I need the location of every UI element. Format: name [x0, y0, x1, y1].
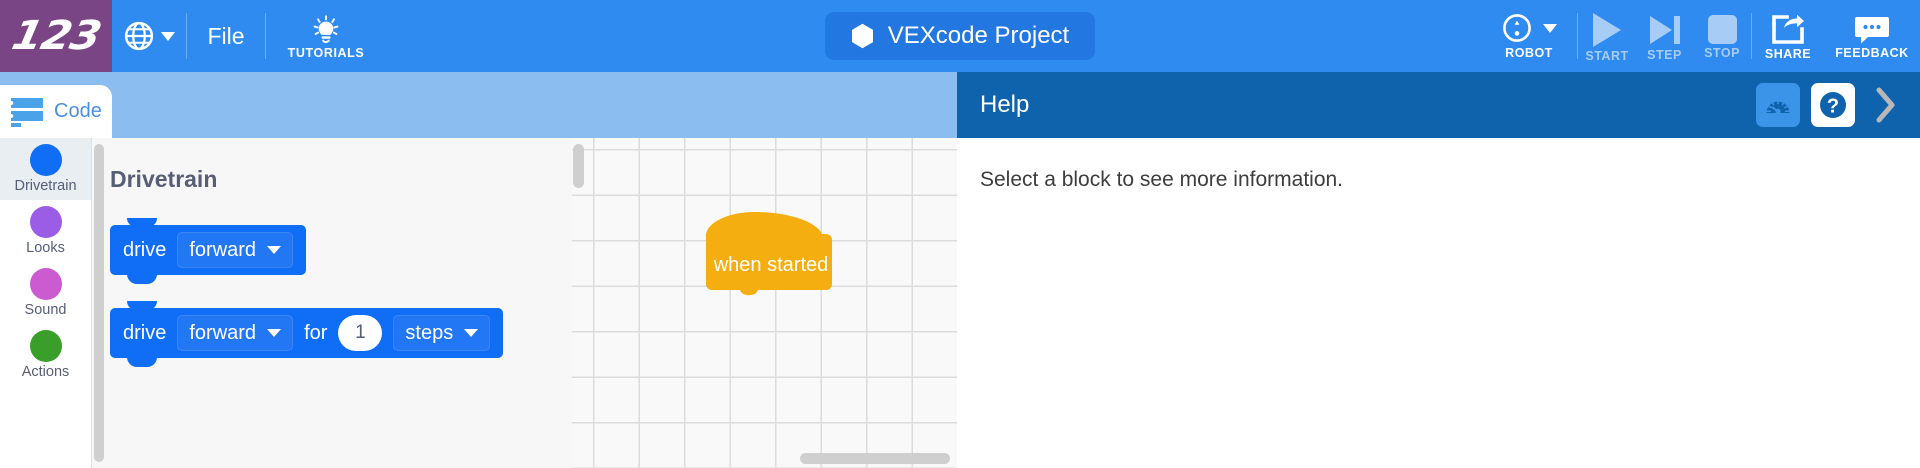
- block-drive-direction-for-steps[interactable]: drive forward for 1 steps: [110, 308, 503, 358]
- blocks-stack-icon: [9, 96, 47, 128]
- sidebar-item-label: Actions: [22, 364, 70, 380]
- speech-bubble-icon: [1854, 16, 1890, 44]
- tutorials-button[interactable]: TUTORIALS: [266, 0, 386, 72]
- share-button[interactable]: SHARE: [1752, 0, 1824, 72]
- step-label: STEP: [1647, 48, 1682, 62]
- step-button[interactable]: STEP: [1636, 0, 1693, 72]
- unit-value: steps: [405, 322, 453, 345]
- chevron-down-icon: [267, 246, 281, 254]
- vex-123-logo[interactable]: 123: [0, 0, 112, 72]
- chevron-right-icon: [1874, 85, 1898, 125]
- feedback-button[interactable]: FEEDBACK: [1824, 0, 1920, 72]
- project-name-button[interactable]: VEXcode Project: [825, 12, 1095, 60]
- file-menu-button[interactable]: File: [187, 0, 265, 72]
- logo-text: 123: [8, 13, 105, 59]
- collapse-help-button[interactable]: [1866, 80, 1906, 130]
- globe-icon: [124, 21, 154, 51]
- tab-code-label: Code: [54, 100, 102, 123]
- block-verb-label: drive: [123, 322, 166, 345]
- stop-label: STOP: [1704, 46, 1740, 60]
- palette-title: Drivetrain: [110, 166, 217, 193]
- sidebar-item-looks[interactable]: Looks: [0, 200, 91, 262]
- robot-menu-button[interactable]: ROBOT: [1481, 0, 1577, 72]
- dashboard-button[interactable]: [1756, 83, 1800, 127]
- svg-text:?: ?: [1827, 95, 1839, 117]
- category-color-dot: [30, 330, 62, 362]
- project-name-text: VEXcode Project: [888, 22, 1069, 50]
- sidebar-item-drivetrain[interactable]: Drivetrain: [0, 138, 91, 200]
- block-when-started[interactable]: when started: [702, 210, 840, 298]
- play-icon: [1593, 13, 1621, 47]
- share-label: SHARE: [1765, 47, 1811, 61]
- vexcode-app: 123 File: [0, 0, 1920, 468]
- start-label: START: [1585, 49, 1628, 63]
- help-panel-title: Help: [980, 91, 1029, 119]
- sidebar-item-actions[interactable]: Actions: [0, 324, 91, 386]
- palette-scrollbar[interactable]: [94, 144, 104, 462]
- gauge-icon: [1764, 91, 1792, 119]
- sidebar-item-sound[interactable]: Sound: [0, 262, 91, 324]
- direction-dropdown[interactable]: forward: [177, 232, 293, 268]
- share-icon: [1771, 14, 1805, 45]
- lightbulb-icon: [309, 15, 343, 45]
- block-for-label: for: [304, 322, 327, 345]
- workspace-horizontal-scrollbar[interactable]: [800, 453, 950, 464]
- help-panel-header: Help: [957, 72, 1920, 138]
- language-menu-button[interactable]: [112, 0, 186, 72]
- code-workspace[interactable]: when started: [572, 138, 957, 468]
- direction-dropdown[interactable]: forward: [177, 315, 293, 351]
- help-panel-body: Select a block to see more information.: [957, 138, 1920, 192]
- category-color-dot: [30, 144, 62, 176]
- category-color-dot: [30, 268, 62, 300]
- chevron-down-icon: [1543, 24, 1557, 33]
- unit-dropdown[interactable]: steps: [393, 315, 490, 351]
- sidebar-item-label: Drivetrain: [14, 178, 76, 194]
- direction-value: forward: [189, 322, 256, 345]
- hexagon-icon: [851, 23, 874, 49]
- toolbar-left-group: File: [112, 0, 386, 72]
- robot-label: ROBOT: [1505, 46, 1553, 60]
- sidebar-item-label: Looks: [26, 240, 65, 256]
- tab-code[interactable]: Code: [0, 85, 112, 138]
- stop-square-icon: [1708, 15, 1737, 44]
- robot-brain-icon: [1501, 12, 1533, 44]
- top-toolbar: 123 File: [0, 0, 1920, 72]
- stop-button[interactable]: STOP: [1693, 0, 1751, 72]
- tutorials-label: TUTORIALS: [288, 46, 365, 60]
- toolbar-sub-band: [0, 72, 957, 138]
- steps-amount-input[interactable]: 1: [338, 315, 382, 351]
- toolbar-right-group: ROBOT START STEP STOP: [1481, 0, 1920, 72]
- question-mark-icon: ?: [1818, 90, 1848, 120]
- chevron-down-icon: [464, 329, 478, 337]
- file-menu-label: File: [207, 23, 244, 50]
- step-forward-icon: [1648, 14, 1682, 46]
- feedback-label: FEEDBACK: [1835, 46, 1908, 60]
- hat-block-label: when started: [702, 254, 840, 277]
- help-panel-message: Select a block to see more information.: [980, 168, 1343, 191]
- category-color-dot: [30, 206, 62, 238]
- category-sidebar: Drivetrain Looks Sound Actions: [0, 138, 92, 468]
- help-question-button[interactable]: ?: [1811, 83, 1855, 127]
- sidebar-item-label: Sound: [25, 302, 67, 318]
- help-panel-actions: ?: [1756, 72, 1906, 138]
- start-button[interactable]: START: [1578, 0, 1636, 72]
- help-panel: Help: [957, 72, 1920, 468]
- chevron-down-icon: [267, 329, 281, 337]
- chevron-down-icon: [161, 32, 175, 41]
- workspace-vertical-scrollbar[interactable]: [573, 144, 584, 188]
- direction-value: forward: [189, 239, 256, 262]
- block-drive-direction[interactable]: drive forward: [110, 225, 306, 275]
- block-verb-label: drive: [123, 239, 166, 262]
